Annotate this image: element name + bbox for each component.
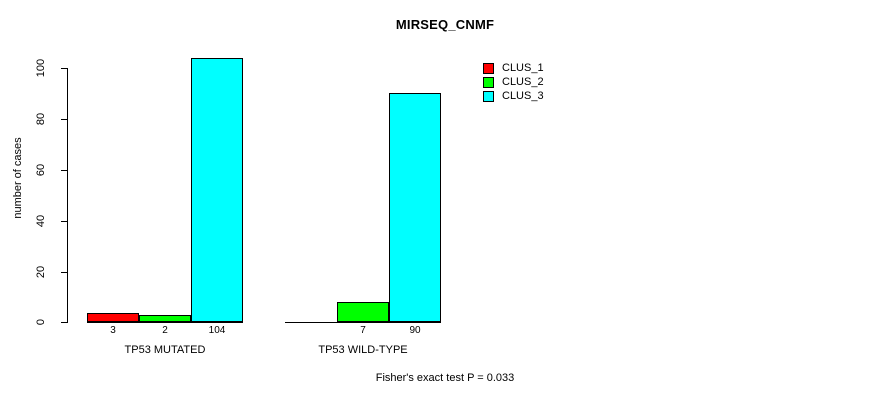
bar-group-tp53-mutated: 3 2 104 TP53 MUTATED: [87, 0, 243, 400]
legend-item-clus-1: CLUS_1: [483, 62, 544, 75]
bar-clus3-wild-type: [389, 93, 441, 322]
y-tick-label-40: 40: [35, 201, 47, 241]
bar-value-clus2-mutated: 2: [139, 325, 191, 336]
legend-label-clus-2: CLUS_2: [502, 77, 544, 88]
legend-label-clus-1: CLUS_1: [502, 63, 544, 74]
legend-item-clus-3: CLUS_3: [483, 90, 544, 103]
y-tick-label-80: 80: [35, 99, 47, 139]
legend-label-clus-3: CLUS_3: [502, 91, 544, 102]
bar-value-clus1-mutated: 3: [87, 325, 139, 336]
y-tick-40: [61, 221, 67, 222]
legend: CLUS_1 CLUS_2 CLUS_3: [483, 62, 544, 104]
plot-area: 100 80 60 40 20 0 number of cases 3 2 10…: [0, 0, 890, 400]
statistical-test-note: Fisher's exact test P = 0.033: [0, 372, 890, 384]
y-tick-0: [61, 322, 67, 323]
group-axis-line: [285, 322, 441, 323]
y-tick-label-20: 20: [35, 252, 47, 292]
y-tick-20: [61, 272, 67, 273]
group-label-tp53-wild-type: TP53 WILD-TYPE: [265, 344, 461, 356]
legend-swatch-icon: [483, 91, 494, 102]
bar-value-clus3-mutated: 104: [191, 325, 243, 336]
legend-item-clus-2: CLUS_2: [483, 76, 544, 89]
y-tick-60: [61, 170, 67, 171]
y-axis-line: [67, 68, 68, 323]
bar-value-clus2-wild-type: 7: [337, 325, 389, 336]
group-label-tp53-mutated: TP53 MUTATED: [67, 344, 263, 356]
y-axis-title: number of cases: [12, 108, 24, 248]
y-tick-label-0: 0: [35, 302, 47, 342]
legend-swatch-icon: [483, 77, 494, 88]
bar-value-clus3-wild-type: 90: [389, 325, 441, 336]
bar-clus2-mutated: [139, 315, 191, 322]
bar-clus1-mutated: [87, 313, 139, 322]
group-axis-line: [87, 322, 243, 323]
bar-clus3-mutated: [191, 58, 243, 322]
y-tick-label-60: 60: [35, 150, 47, 190]
legend-swatch-icon: [483, 63, 494, 74]
y-tick-100: [61, 68, 67, 69]
y-tick-label-100: 100: [35, 48, 47, 88]
bar-clus2-wild-type: [337, 302, 389, 322]
bar-group-tp53-wild-type: 7 90 TP53 WILD-TYPE: [285, 0, 441, 400]
y-tick-80: [61, 119, 67, 120]
